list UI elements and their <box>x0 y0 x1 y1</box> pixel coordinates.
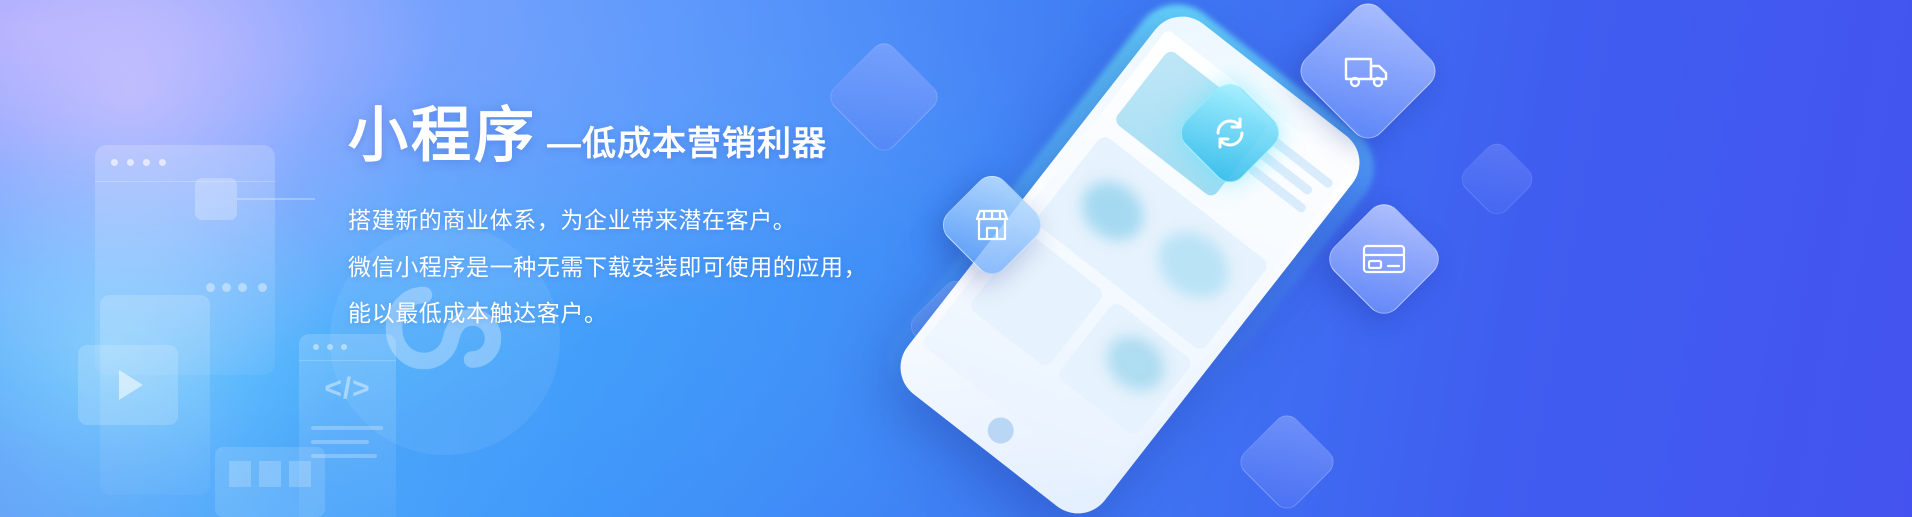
toolbar-dots-watermark <box>206 280 286 294</box>
decorative-cube <box>1235 410 1340 515</box>
hero-description: 搭建新的商业体系，为企业带来潜在客户。 微信小程序是一种无需下载安装即可使用的应… <box>348 204 968 330</box>
headline-main: 小程序 <box>348 106 537 166</box>
panel-watermark <box>100 295 210 495</box>
code-brackets-icon: </> <box>299 372 396 406</box>
play-icon <box>119 370 143 400</box>
window-dot <box>127 159 134 166</box>
window-titlebar <box>95 145 275 182</box>
code-window-watermark: </> <box>299 334 396 517</box>
square-node-watermark <box>195 178 237 220</box>
description-line: 微信小程序是一种无需下载安装即可使用的应用， <box>348 251 968 284</box>
browser-window-watermark <box>95 145 275 375</box>
decorative-cube <box>1456 138 1538 220</box>
description-line: 能以最低成本触达客户。 <box>348 297 968 330</box>
description-line: 搭建新的商业体系，为企业带来潜在客户。 <box>348 204 968 237</box>
hero-banner: </> 小程序 —低成本营销利器 搭建新的商业体系，为企业带来潜在客户。 微信小… <box>0 0 1912 517</box>
hero-illustration <box>880 0 1912 517</box>
headline-sub: —低成本营销利器 <box>547 127 827 161</box>
connector-line-watermark <box>237 198 315 200</box>
window-dot <box>159 159 166 166</box>
list-card-watermark <box>215 447 325 517</box>
left-glow <box>0 120 340 517</box>
phone-home-button <box>982 412 1018 448</box>
window-dot <box>111 159 118 166</box>
video-play-card-watermark <box>78 345 178 425</box>
window-dot <box>143 159 150 166</box>
